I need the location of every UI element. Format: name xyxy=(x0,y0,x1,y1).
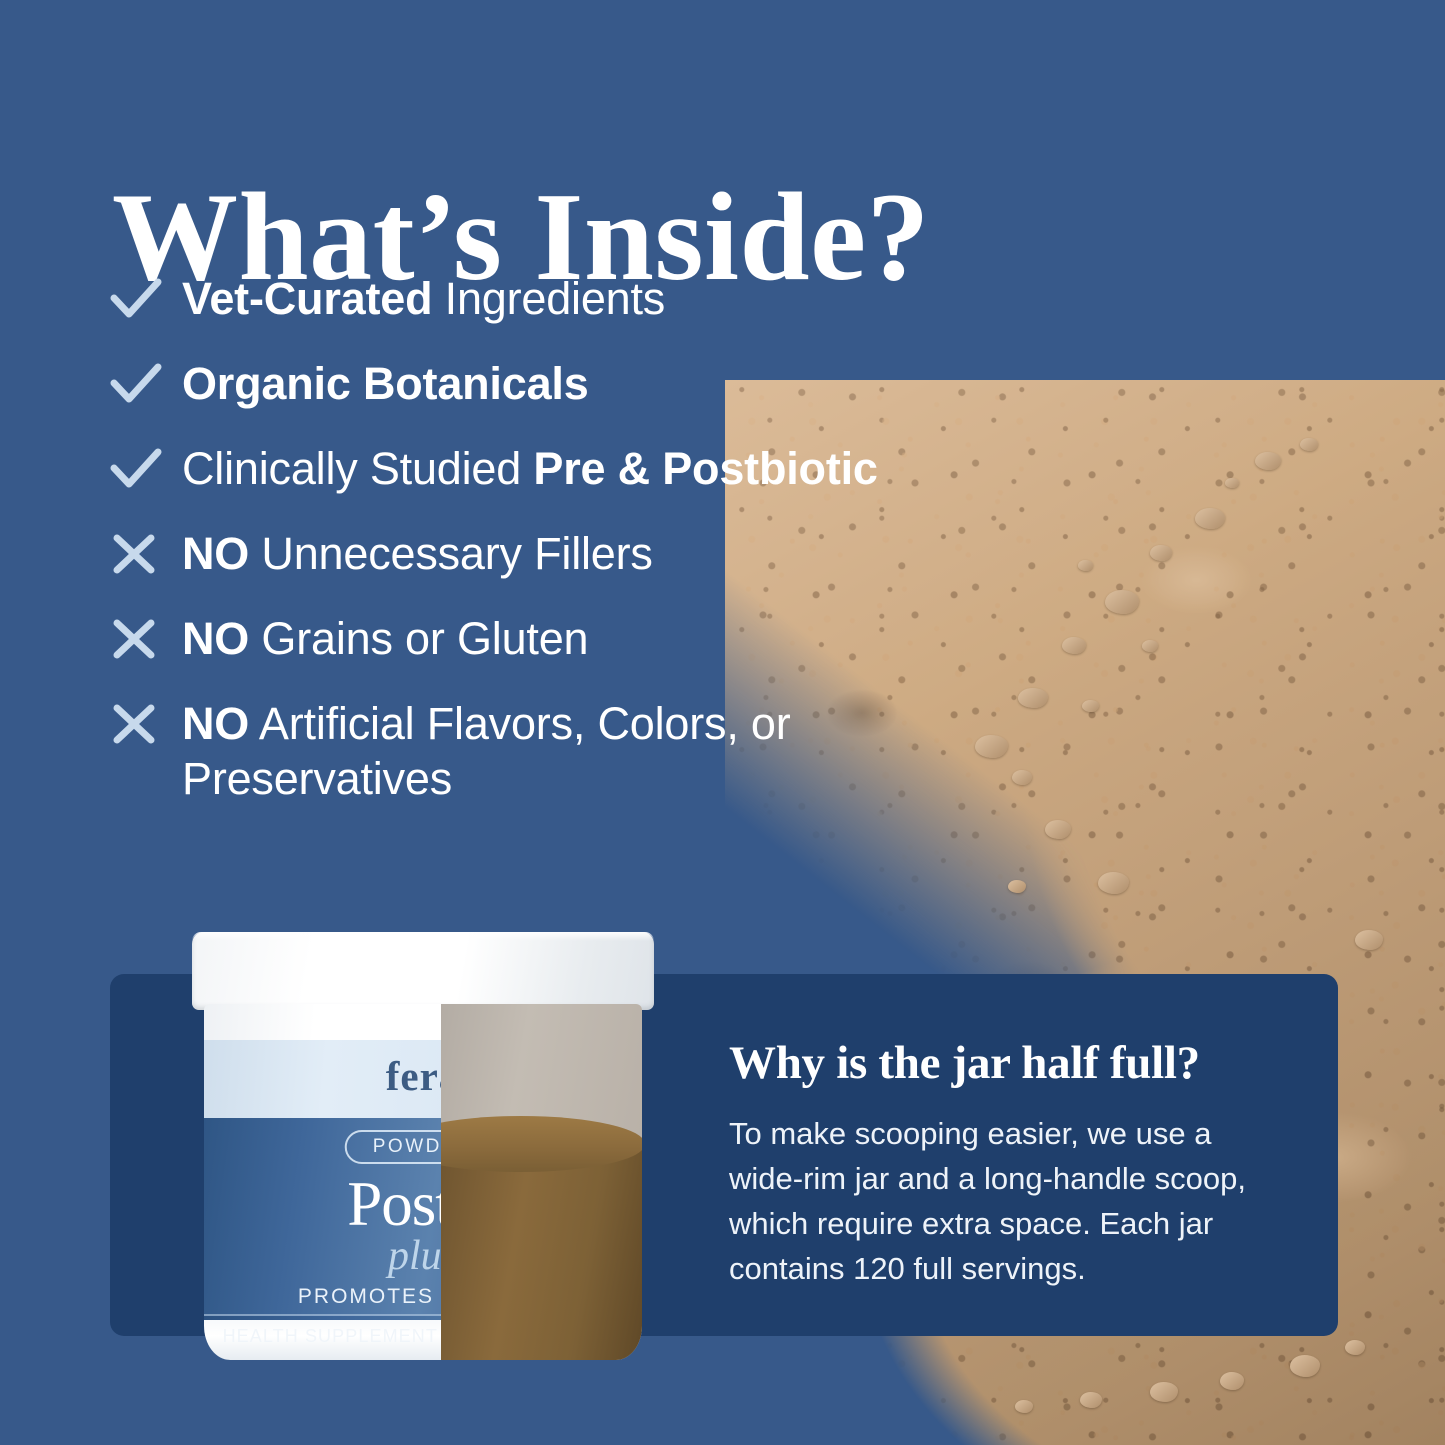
powder-crumb xyxy=(1225,478,1239,488)
cross-icon xyxy=(108,699,182,753)
powder-crumb xyxy=(1195,508,1225,529)
marketing-image: What’s Inside? Vet-Curated Ingredients O… xyxy=(0,0,1445,1445)
powder-crumb xyxy=(1045,820,1071,839)
list-item: Clinically Studied Pre & Postbiotic xyxy=(108,442,1048,498)
list-item-emphasis: NO xyxy=(182,613,249,664)
powder-crumb xyxy=(1062,637,1086,654)
list-item-label: Clinically Studied Pre & Postbiotic xyxy=(182,442,878,497)
list-item-emphasis: NO xyxy=(182,698,249,749)
powder-crumb xyxy=(1142,640,1158,652)
powder-crumb xyxy=(1255,452,1281,470)
info-card-paragraph: To make scooping easier, we use a wide-r… xyxy=(729,1112,1289,1292)
powder-crumb xyxy=(1015,1400,1033,1413)
cross-icon xyxy=(108,614,182,668)
list-item-emphasis: Organic Botanicals xyxy=(182,358,589,409)
list-item-label: NO Artificial Flavors, Colors, or Preser… xyxy=(182,697,942,807)
list-item-label: NO Unnecessary Fillers xyxy=(182,527,653,582)
list-item-label: Organic Botanicals xyxy=(182,357,589,412)
powder-crumb xyxy=(1098,872,1129,894)
info-card-body: Why is the jar half full? To make scoopi… xyxy=(729,1036,1289,1292)
powder-crumb xyxy=(1220,1372,1244,1390)
list-item-rest: Unnecessary Fillers xyxy=(249,528,653,579)
powder-crumb xyxy=(1355,930,1383,950)
list-item: NO Unnecessary Fillers xyxy=(108,527,1048,583)
product-jar: fera POWDER Postbi plus PROMOTES OPTIMAL… xyxy=(188,930,658,1362)
list-item-rest: Clinically Studied xyxy=(182,443,533,494)
powder-crumb xyxy=(1082,700,1099,712)
jar-powder-fill xyxy=(441,1140,642,1360)
powder-crumb xyxy=(1150,545,1172,561)
list-item: NO Artificial Flavors, Colors, or Preser… xyxy=(108,697,1048,807)
powder-crumb xyxy=(1300,438,1318,451)
list-item: NO Grains or Gluten xyxy=(108,612,1048,668)
list-item-rest: Ingredients xyxy=(432,273,665,324)
list-item: Organic Botanicals xyxy=(108,357,1048,413)
jar-cutaway-section xyxy=(441,1004,642,1360)
feature-list: Vet-Curated Ingredients Organic Botanica… xyxy=(108,272,1048,836)
cross-icon xyxy=(108,529,182,583)
jar-lid xyxy=(192,932,654,1010)
list-item-rest: Artificial Flavors, Colors, or Preservat… xyxy=(182,698,791,804)
list-item-emphasis: Pre & Postbiotic xyxy=(533,443,877,494)
list-item-emphasis: Vet-Curated xyxy=(182,273,432,324)
check-icon xyxy=(108,359,182,413)
list-item-label: Vet-Curated Ingredients xyxy=(182,272,665,327)
check-icon xyxy=(108,444,182,498)
powder-crumb xyxy=(1105,590,1139,614)
powder-crumb xyxy=(1150,1382,1178,1402)
list-item-label: NO Grains or Gluten xyxy=(182,612,588,667)
list-item-rest: Grains or Gluten xyxy=(249,613,588,664)
check-icon xyxy=(108,274,182,328)
list-item: Vet-Curated Ingredients xyxy=(108,272,1048,328)
powder-crumb xyxy=(1008,880,1026,893)
powder-crumb xyxy=(1290,1355,1320,1377)
powder-crumb xyxy=(1078,560,1093,571)
list-item-emphasis: NO xyxy=(182,528,249,579)
info-card-heading: Why is the jar half full? xyxy=(729,1036,1289,1090)
powder-crumb xyxy=(1080,1392,1102,1408)
powder-crumb xyxy=(1345,1340,1365,1355)
